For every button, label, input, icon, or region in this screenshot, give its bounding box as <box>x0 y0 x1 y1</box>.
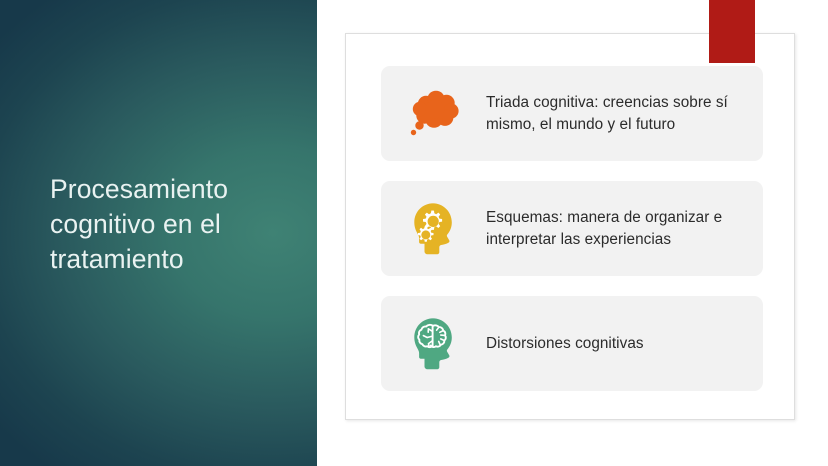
thought-bubble-icon <box>395 83 473 145</box>
head-with-gears-icon <box>395 198 473 260</box>
list-item[interactable]: Esquemas: manera de organizar e interpre… <box>381 181 763 276</box>
content-card: Triada cognitiva: creencias sobre sí mis… <box>345 33 795 420</box>
slide-canvas: Procesamiento cognitivo en el tratamient… <box>0 0 828 466</box>
list-item-label: Triada cognitiva: creencias sobre sí mis… <box>473 92 753 135</box>
list-item[interactable]: Distorsiones cognitivas <box>381 296 763 391</box>
list-item-label: Esquemas: manera de organizar e interpre… <box>473 207 753 250</box>
title-panel: Procesamiento cognitivo en el tratamient… <box>0 0 317 466</box>
head-with-brain-icon <box>395 313 473 375</box>
accent-bar <box>709 0 755 63</box>
list-item[interactable]: Triada cognitiva: creencias sobre sí mis… <box>381 66 763 161</box>
list-item-label: Distorsiones cognitivas <box>473 333 753 355</box>
slide-title: Procesamiento cognitivo en el tratamient… <box>50 172 300 277</box>
item-list: Triada cognitiva: creencias sobre sí mis… <box>381 66 763 391</box>
